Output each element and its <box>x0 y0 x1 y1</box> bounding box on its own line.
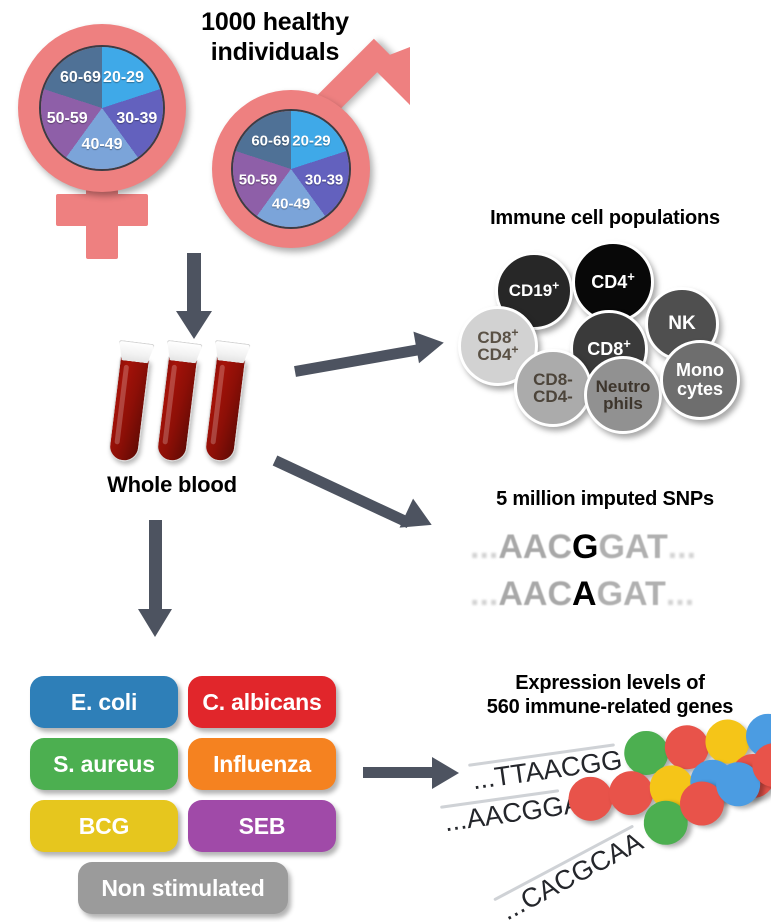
stimuli-grid: E. coliC. albicansS. aureusInfluenzaBCGS… <box>30 676 350 896</box>
snp-prefix-ellipsis: ... <box>470 575 498 614</box>
snp-variant-base: G <box>572 528 598 567</box>
immune-cell-label: Neutrophils <box>596 378 651 413</box>
stimulus-s-aureus[interactable]: S. aureus <box>30 738 178 790</box>
immune-cell-label: CD8-CD4- <box>533 371 573 406</box>
stimulus-bcg[interactable]: BCG <box>30 800 178 852</box>
immune-cell-label: NK <box>668 314 695 334</box>
mrna-sequence-text: ...CACGCAA <box>496 826 648 922</box>
immune-cell-label: CD4+ <box>591 273 635 292</box>
expression-title-line2: 560 immune-related genes <box>455 696 765 720</box>
snp-suffix-ellipsis: ... <box>668 528 696 567</box>
snp-sequences: ...AACGGAT......AACAGAT... <box>470 528 760 618</box>
snp-bases-after: GAT <box>598 528 667 567</box>
arrow-blood-to-stimuli-head <box>138 609 172 637</box>
stimulus-non-stimulated[interactable]: Non stimulated <box>78 862 288 914</box>
stimulus-c-albicans[interactable]: C. albicans <box>188 676 336 728</box>
snp-bases-after: GAT <box>597 575 666 614</box>
stimulus-seb[interactable]: SEB <box>188 800 336 852</box>
whole-blood-label: Whole blood <box>72 472 272 498</box>
snp-sequence-row: ...AACAGAT... <box>470 575 694 614</box>
immune-cell-label: Monocytes <box>676 361 724 398</box>
snp-bases-before: AAC <box>498 528 572 567</box>
snp-variant-base: A <box>572 575 597 614</box>
snp-suffix-ellipsis: ... <box>666 575 694 614</box>
immune-cell-cd8-cd4: CD8-CD4- <box>514 349 592 427</box>
arrow-blood-to-snps <box>273 456 412 529</box>
arrow-stimuli-to-expression <box>363 767 435 778</box>
snp-prefix-ellipsis: ... <box>470 528 498 567</box>
immune-cell-cluster: CD19+CD4+CD8+CD4+CD8+NKCD8-CD4-Neutrophi… <box>0 0 771 440</box>
immune-cell-label: CD19+ <box>509 282 560 300</box>
snp-bases-before: AAC <box>498 575 572 614</box>
stimulus-influenza[interactable]: Influenza <box>188 738 336 790</box>
arrow-blood-to-stimuli <box>149 520 162 613</box>
immune-cell-monocytes: Monocytes <box>660 340 740 420</box>
expression-title-line1: Expression levels of <box>455 672 765 696</box>
immune-cell-label: CD8+CD4+ <box>477 329 518 364</box>
arrow-blood-to-snps-head <box>400 499 439 540</box>
snp-sequence-row: ...AACGGAT... <box>470 528 696 567</box>
immune-cell-neutrophils: Neutrophils <box>584 356 662 434</box>
imputed-snps-title: 5 million imputed SNPs <box>460 488 750 512</box>
mrna-strands-group: ...TTAACGG...AACGGAT...CACGCAA <box>440 730 771 920</box>
stimulus-e-coli[interactable]: E. coli <box>30 676 178 728</box>
figure-canvas: 1000 healthy individuals 20-2930-3940-49… <box>0 0 771 922</box>
expression-levels-title: Expression levels of 560 immune-related … <box>455 672 765 719</box>
